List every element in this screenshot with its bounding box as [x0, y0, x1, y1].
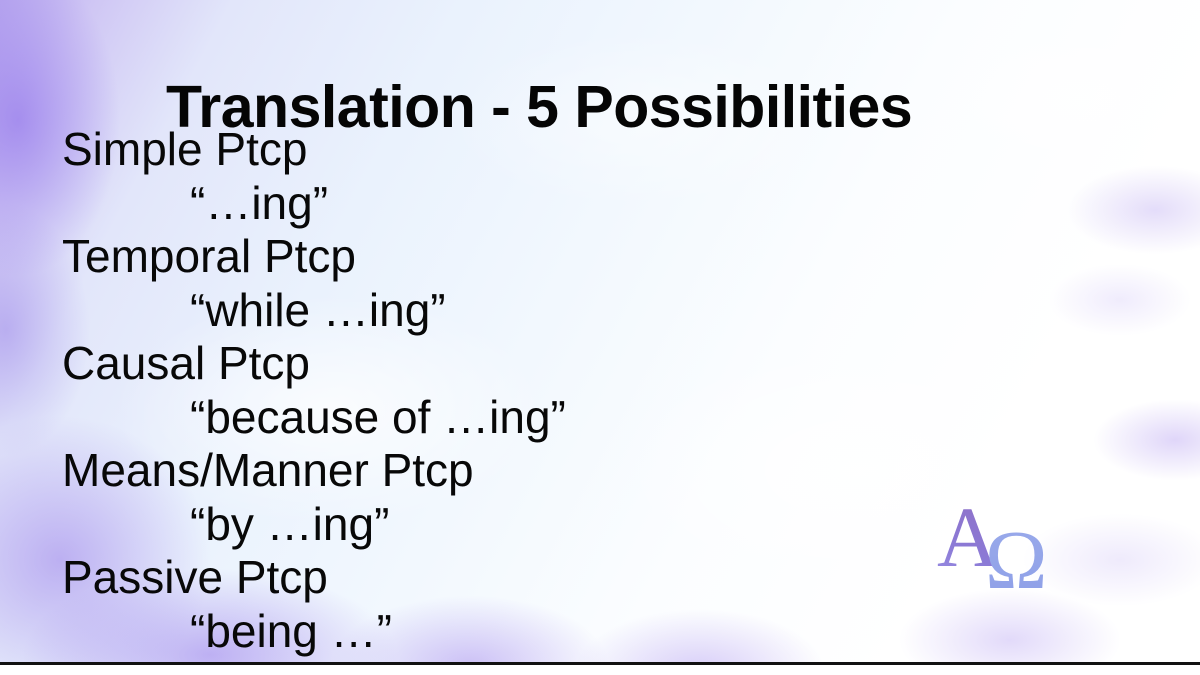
slide-body-list: Simple Ptcp “…ing” Temporal Ptcp “while …: [62, 123, 942, 658]
list-item: Passive Ptcp “being …”: [62, 551, 942, 658]
ptcp-type-label: Means/Manner Ptcp: [62, 444, 942, 497]
omega-glyph: Ω: [985, 514, 1047, 593]
ptcp-type-label: Simple Ptcp: [62, 123, 942, 176]
list-item: Temporal Ptcp “while …ing”: [62, 230, 942, 337]
ptcp-gloss-text: “because of …ing”: [62, 390, 942, 444]
ptcp-gloss-text: “being …”: [62, 604, 942, 658]
list-item: Simple Ptcp “…ing”: [62, 123, 942, 230]
list-item: Causal Ptcp “because of …ing”: [62, 337, 942, 444]
presentation-slide: Translation - 5 Possibilities Simple Ptc…: [0, 0, 1200, 675]
list-item: Means/Manner Ptcp “by …ing”: [62, 444, 942, 551]
ptcp-type-label: Passive Ptcp: [62, 551, 942, 604]
ptcp-type-label: Causal Ptcp: [62, 337, 942, 390]
ptcp-gloss-text: “…ing”: [62, 176, 942, 230]
alpha-omega-logo: Α Ω: [933, 488, 1073, 593]
ptcp-type-label: Temporal Ptcp: [62, 230, 942, 283]
ptcp-gloss-text: “while …ing”: [62, 283, 942, 337]
slide-bottom-strip: [0, 665, 1200, 675]
ptcp-gloss-text: “by …ing”: [62, 497, 942, 551]
